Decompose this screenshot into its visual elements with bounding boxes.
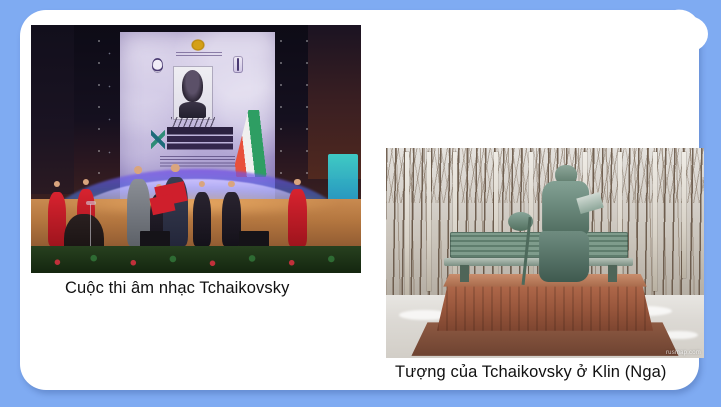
photo-watermark: rusmap.com (666, 350, 701, 356)
slide-canvas: Cuộc thi âm nhạc Tchaikovsky (0, 0, 721, 407)
tchaikovsky-bronze-figure (536, 165, 600, 283)
caption-music-competition: Cuộc thi âm nhạc Tchaikovsky (65, 279, 289, 298)
caption-tchaikovsky-statue: Tượng của Tchaikovsky ở Klin (Nga) (395, 363, 666, 382)
photo-music-competition (31, 25, 361, 273)
tchaikovsky-portrait (173, 66, 213, 120)
photo-tchaikovsky-statue: rusmap.com (386, 148, 704, 358)
